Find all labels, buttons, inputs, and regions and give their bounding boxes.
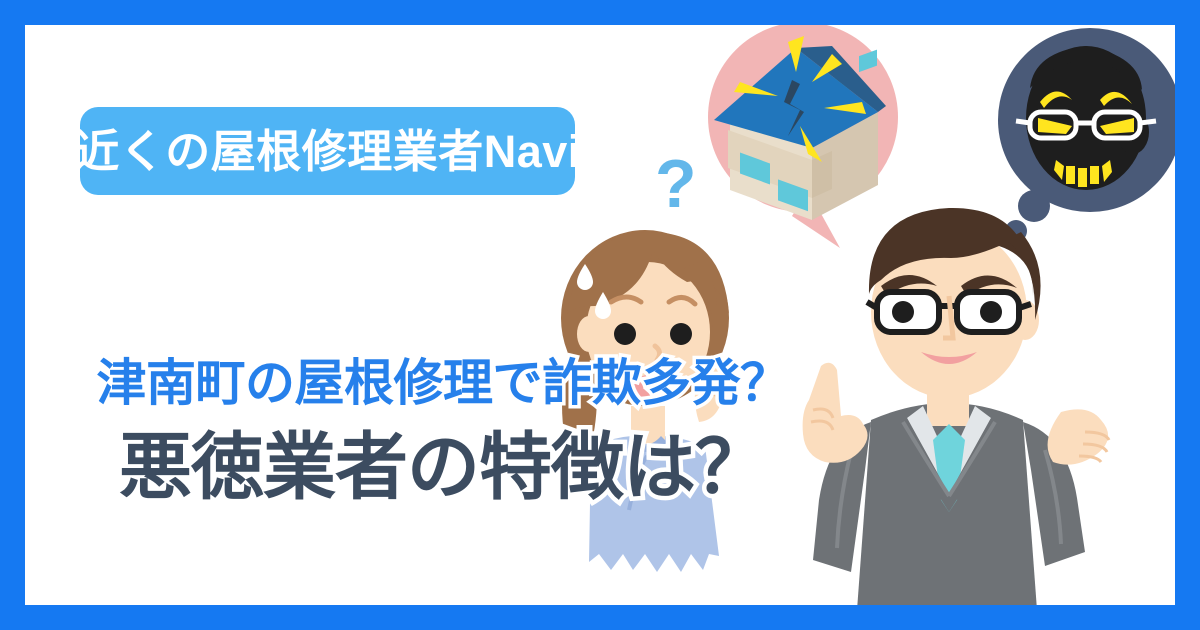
open-hand	[1048, 409, 1109, 464]
headline-block: 津南町の屋根修理で詐欺多発？ 悪徳業者の特徴は？	[63, 355, 823, 508]
thumbnail-frame: 近くの屋根修理業者Navi ? 津南町の屋根修理で詐欺多発？ 悪徳業者の特徴は？	[0, 0, 1200, 630]
question-mark-decoration: ?	[655, 150, 697, 218]
businessman-pointing-up	[785, 200, 1115, 605]
site-name-badge[interactable]: 近くの屋根修理業者Navi	[80, 107, 575, 195]
headline-line-1: 津南町の屋根修理で詐欺多発？	[63, 355, 823, 413]
man-svg	[785, 200, 1115, 605]
site-name-label: 近くの屋根修理業者Navi	[74, 129, 581, 174]
headline-line-2: 悪徳業者の特徴は？	[63, 427, 823, 509]
thumbnail-canvas: 近くの屋根修理業者Navi ? 津南町の屋根修理で詐欺多発？ 悪徳業者の特徴は？	[25, 25, 1175, 605]
